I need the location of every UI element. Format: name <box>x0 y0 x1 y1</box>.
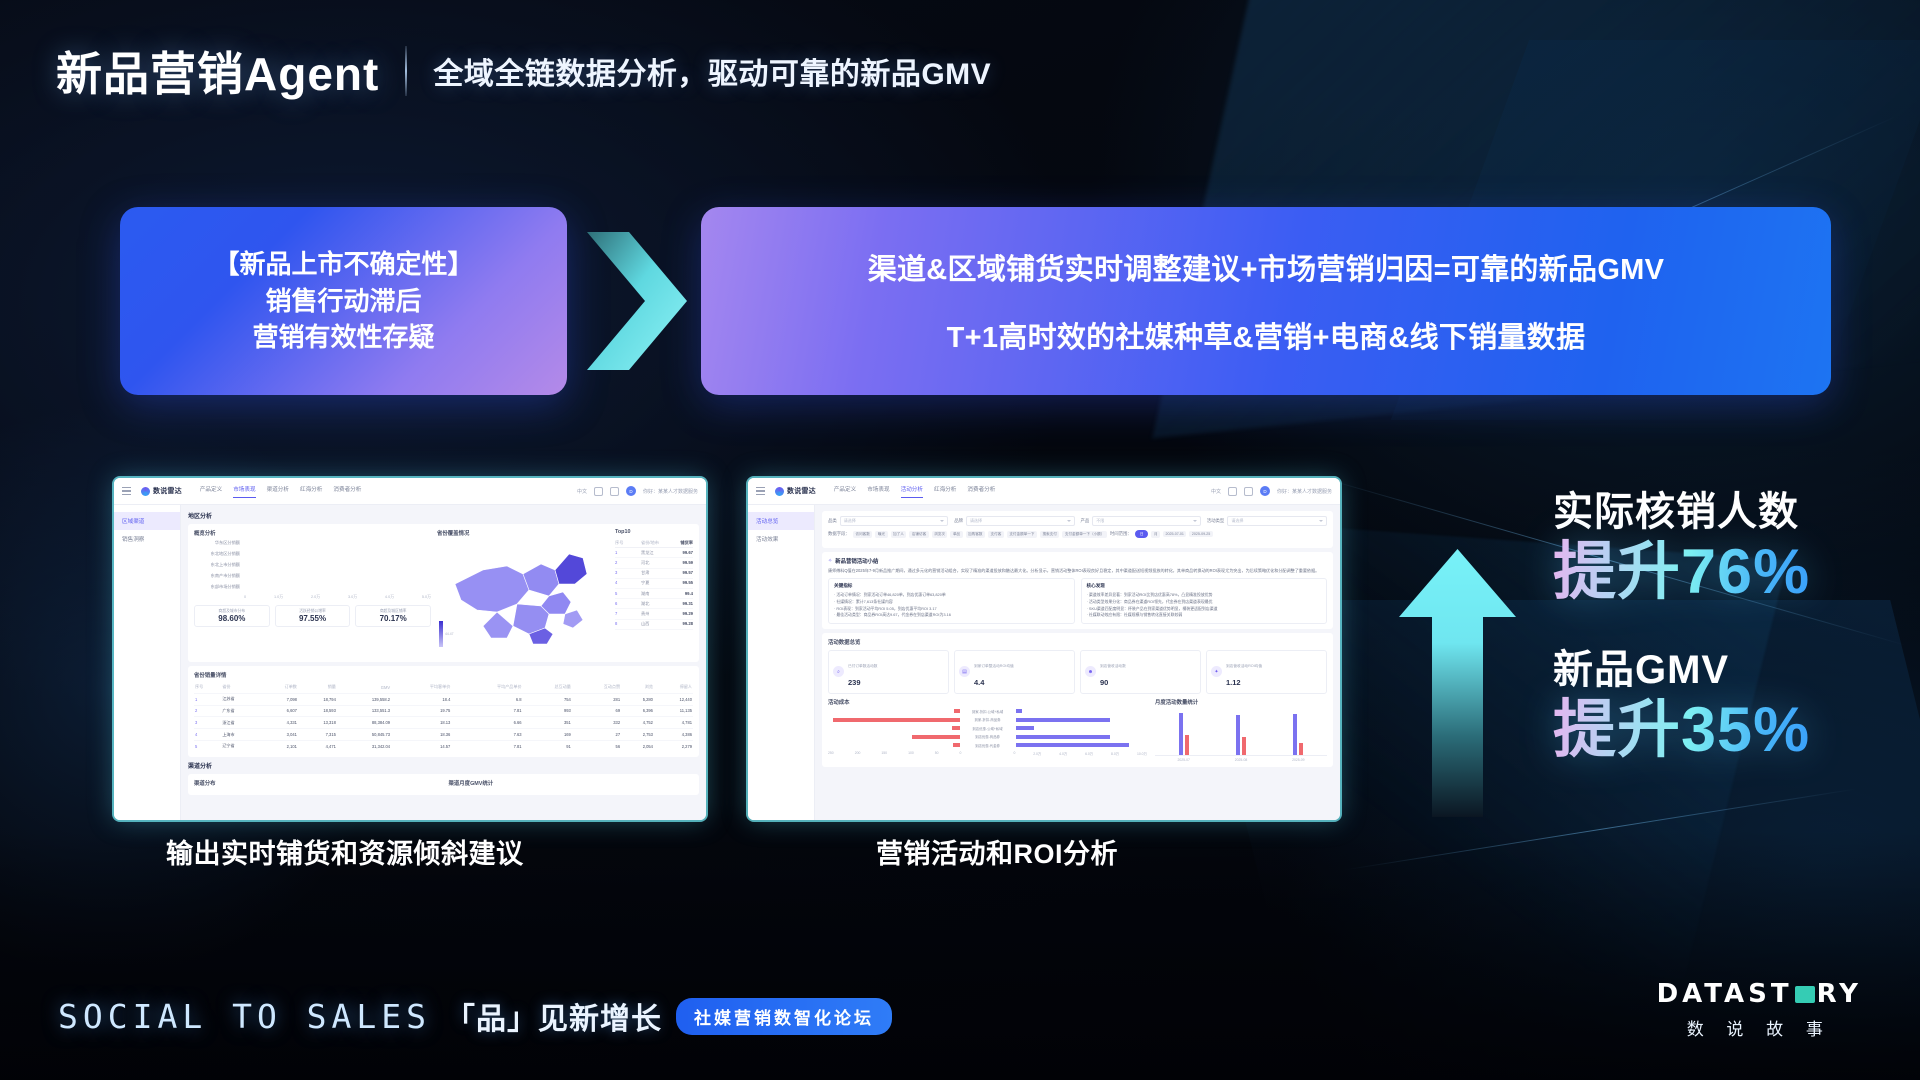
table-row: 3浙江省4,33113,31888,384.0918.136.663513324… <box>194 717 693 729</box>
china-map-icon <box>437 540 605 652</box>
list-item: · 活动订单情况：到家活动订单46,820单，到店优惠订单63,820单 <box>834 592 1069 599</box>
kpi-card: ⌕已付订单数活动数239 <box>828 650 949 694</box>
channel-dist-title: 渠道分布 <box>194 779 439 787</box>
list-item: 8山西99.28 <box>615 620 693 630</box>
time-unit-day-button[interactable]: 日 <box>1135 530 1149 538</box>
sidebar-item-0[interactable]: 活动总览 <box>748 512 814 530</box>
list-item: 4宁夏99.55 <box>615 579 693 589</box>
language-selector[interactable]: 中文 <box>577 488 587 495</box>
tag[interactable]: 曝光 <box>875 531 887 538</box>
problem-card: 【新品上市不确定性】 销售行动滞后 营销有效性存疑 <box>120 207 567 395</box>
axis-tick: 5.0万 <box>422 595 431 600</box>
user-icon: ☻ <box>1085 666 1096 677</box>
col-header: 省份 <box>221 682 259 693</box>
dashboard-right-topbar-right: 中文 D 你好：某某人才数据服务 <box>1211 486 1332 496</box>
sparkle-icon: ✧ <box>828 558 832 564</box>
months-plot <box>1155 709 1327 756</box>
tag-row: 数据字段： 访问客数 曝光 加了人 店铺访客 浏览次 单品 加购客数 支付客 支… <box>828 530 1327 538</box>
company-logo-en-post: RY <box>1817 979 1862 1009</box>
col-header: 序号 <box>615 540 641 546</box>
col-header: 浏览 <box>621 682 654 693</box>
chevron-down-icon <box>1193 520 1197 522</box>
summary-card: ✧ 新品营销活动小结 康师傅料Q值在2025年7-9月新品推广期间，通过多元化的… <box>822 552 1333 629</box>
stat-value: 提升35% <box>1553 694 1810 766</box>
china-map-chart: 省份覆盖情况 <box>437 529 609 657</box>
event-logo-en: SOCIAL TO SALES <box>58 997 431 1036</box>
filter-label: 品牌 <box>954 518 963 524</box>
stat-label: 实际核销人数 <box>1553 488 1810 536</box>
nav-item-2[interactable]: 渠道分析 <box>267 485 289 498</box>
header-divider <box>405 46 407 96</box>
axis-tick: 2025-07 <box>1177 758 1189 762</box>
nav-item-3[interactable]: 红海分析 <box>300 485 322 498</box>
tornado-row: 到店优惠-代金券 <box>828 743 1147 748</box>
axis-tick: 200 <box>855 751 861 756</box>
nav-item-1[interactable]: 市场表现 <box>233 485 255 498</box>
event-logo-cn: 「品」见新增长 <box>445 994 662 1038</box>
map-legend: 44.47 <box>439 621 454 647</box>
col-header: 互动点赞 <box>572 682 621 693</box>
list-item: 3甘肃99.57 <box>615 569 693 579</box>
nav-item-0[interactable]: 产品定义 <box>834 485 856 498</box>
table-row: 1江苏省7,09818,794139,558.218.46.87542815,2… <box>194 693 693 705</box>
stat-value: 提升76% <box>1553 536 1810 608</box>
sidebar-item-0[interactable]: 区域渠道 <box>114 512 180 530</box>
kpi-card: 商超及城市分布98.60% <box>194 605 270 627</box>
tag[interactable]: 搜索支付 <box>1040 531 1059 538</box>
key-metrics-box: 关键指标 · 活动订单情况：到家活动订单46,820单，到店优惠订单63,820… <box>828 578 1075 624</box>
map-title: 省份覆盖情况 <box>437 529 609 537</box>
kpi-value: 90 <box>1100 678 1108 687</box>
dashboard-right-topbar: 数说雷达 产品定义 市场表现 活动分析 红海分析 消费者分析 中文 D 你好：某… <box>748 478 1340 505</box>
filter-group: 品类请选择 <box>828 516 948 526</box>
stat-1: 实际核销人数 提升76% <box>1553 488 1810 608</box>
stats-block: 实际核销人数 提升76% 新品GMV 提升35% <box>1553 488 1810 767</box>
axis-tick: 2.0万 <box>311 595 320 600</box>
dashboard-left-topbar-right: 中文 D 你好：某某人才数据服务 <box>577 486 698 496</box>
nav-item-0[interactable]: 产品定义 <box>200 485 222 498</box>
axis-tick: 100 <box>908 751 914 756</box>
problem-line-1: 【新品上市不确定性】 <box>213 246 473 283</box>
axis-tick: 50 <box>935 751 939 756</box>
axis-tick: 0 <box>244 595 246 600</box>
list-item: 2河北99.59 <box>615 558 693 568</box>
company-logo-en-pre: DATAST <box>1657 979 1793 1009</box>
bar-row: 东部市场分销额 <box>194 584 431 590</box>
col-header: 平均产品单价 <box>451 682 522 693</box>
company-logo: DATAST RY 数 说 故 事 <box>1657 979 1862 1040</box>
avatar[interactable]: D <box>1260 486 1270 496</box>
activity-overview-card: 活动数据总览 ⌕已付订单数活动数239 ▤到家订单整活动ROI均值4.4 ☻到店… <box>822 633 1333 767</box>
col-header: 订单数 <box>260 682 298 693</box>
key-metrics-title: 关键指标 <box>834 583 1069 589</box>
logo-mark-icon <box>141 487 150 496</box>
date-end-input[interactable]: 2025-09-25 <box>1189 531 1212 537</box>
page-header: 新品营销Agent 全域全链数据分析，驱动可靠的新品GMV <box>56 38 991 104</box>
chevron-down-icon <box>1067 520 1071 522</box>
kpi-card: ☻到店营收活动数90 <box>1080 650 1201 694</box>
dashboard-left-main: 地区分析 概览分析 华东区分销额 东北地区分销额 东北上市分销额 东南产市分销额… <box>181 505 706 820</box>
list-item: · ROI表现：到家活动平均ROI 5.05，到店优惠平均ROI 3.17 <box>834 606 1069 613</box>
kpi-value: 70.17% <box>358 614 428 623</box>
tag[interactable]: 支付金额单一下 <box>1007 531 1037 538</box>
monthly-bar-chart: 月度活动数量统计 2025-07 2025-08 2025-09 <box>1155 698 1327 762</box>
tornado-row: 到家-折扣-商品券 <box>828 717 1147 722</box>
bar-row: 华东区分销额 <box>194 540 431 546</box>
nav-item-1[interactable]: 市场表现 <box>867 485 889 498</box>
solution-line-2: T+1高时效的社媒种草&营销+电商&线下销量数据 <box>947 314 1586 356</box>
kpi-value: 98.60% <box>197 614 267 623</box>
kpi-card: 商超及城区铺率70.17% <box>355 605 431 627</box>
axis-tick: 8.0万 <box>1111 751 1119 756</box>
overview-card: 概览分析 华东区分销额 东北地区分销额 东北上市分销额 东南产市分销额 东部市场… <box>188 524 699 662</box>
problem-line-2: 销售行动滞后 <box>265 283 421 320</box>
search-icon: ⌕ <box>833 666 844 677</box>
logo-mark-icon <box>775 487 784 496</box>
bar-group <box>1293 714 1303 755</box>
event-branding: SOCIAL TO SALES 「品」见新增长 社媒营销数智化论坛 <box>58 994 892 1038</box>
tornado-row: 到家-折扣-公域+私域 <box>828 709 1147 714</box>
filter-label: 产品 <box>1081 518 1090 524</box>
filter-select[interactable]: 请选择 <box>966 516 1074 526</box>
bar-label: 华东区分销额 <box>194 540 240 546</box>
nav-item-4[interactable]: 消费者分析 <box>333 485 361 498</box>
kpi-card: ✦到店营收活动ROI均值1.12 <box>1206 650 1327 694</box>
filter-select[interactable]: 请选择 <box>1227 516 1327 526</box>
table-header-row: 序号 省份 订单数 销量 GMV 平均客单价 平均产品单价 总互动量 互动点赞 … <box>194 682 693 693</box>
cost-title: 活动成本 <box>828 698 1147 706</box>
time-unit-month-button[interactable]: 月 <box>1151 531 1160 538</box>
help-icon[interactable] <box>1228 487 1237 496</box>
top10-list: Top10 序号 省份/地市 铺货率 1黑龙江99.67 2河北99.59 3甘… <box>615 529 693 657</box>
list-item: 1黑龙江99.67 <box>615 548 693 558</box>
summary-title: 新品营销活动小结 <box>835 557 878 565</box>
tag[interactable]: 支付金额单一下（小额） <box>1062 531 1107 538</box>
axis-tick: 10.0万 <box>1137 751 1147 756</box>
list-item: · 社媒情况：累计7,613条社媒内容 <box>834 599 1069 606</box>
bar-chart: 概览分析 华东区分销额 东北地区分销额 东北上市分销额 东南产市分销额 东部市场… <box>194 529 431 657</box>
dashboard-left-sidebar[interactable]: 区域渠道 销售洞察 <box>114 505 181 820</box>
dashboard-screenshot-right[interactable]: 数说雷达 产品定义 市场表现 活动分析 红海分析 消费者分析 中文 D 你好：某… <box>748 478 1340 820</box>
tag[interactable]: 加购客数 <box>966 531 985 538</box>
stat-label: 新品GMV <box>1553 646 1810 694</box>
axis-tick: 0 <box>1014 751 1016 756</box>
cost-tornado-chart: 活动成本 到家-折扣-公域+私域 到家-折扣-商品券 到店优惠-公域+私域 到店… <box>828 698 1147 762</box>
col-header: 铺货率 <box>667 540 693 546</box>
dashboard-right-sidebar[interactable]: 活动总览 活动效果 <box>748 505 815 820</box>
axis-tick: 6.0万 <box>1085 751 1093 756</box>
list-item: 5湖南99.4 <box>615 589 693 599</box>
tag[interactable]: 支付客 <box>988 531 1004 538</box>
core-findings-box: 核心发现 · 渠道效率差异显著：到家活动ROI比到店优惠高78%，凸显精准投放优… <box>1081 578 1328 624</box>
bell-icon[interactable] <box>610 487 619 496</box>
dashboard-right-nav[interactable]: 产品定义 市场表现 活动分析 红海分析 消费者分析 <box>834 485 996 498</box>
tag[interactable]: 加了人 <box>891 531 907 538</box>
company-logo-en: DATAST RY <box>1657 979 1862 1009</box>
stat-2: 新品GMV 提升35% <box>1553 646 1810 766</box>
col-header: 平均客单价 <box>391 682 451 693</box>
slide-root: 新品营销Agent 全域全链数据分析，驱动可靠的新品GMV 【新品上市不确定性】… <box>0 0 1920 1080</box>
logo-text: 数说雷达 <box>153 486 182 496</box>
col-header: 省份/地市 <box>641 540 667 546</box>
filter-label: 品类 <box>828 518 837 524</box>
bar-row: 东北地区分销额 <box>194 551 431 557</box>
kpi-value: 239 <box>848 678 861 687</box>
dashboard-left-logo: 数说雷达 <box>141 486 182 496</box>
bar-axis: 0 1.0万 2.0万 3.0万 4.0万 5.0万 <box>194 595 431 600</box>
dashboard-left-topbar: 数说雷达 产品定义 市场表现 渠道分析 红海分析 消费者分析 中文 D 你好：某… <box>114 478 706 505</box>
axis-tick: 2025-08 <box>1235 758 1247 762</box>
kpi-value: 4.4 <box>974 678 984 687</box>
solution-card: 渠道&区域铺货实时调整建议+市场营销归因=可靠的新品GMV T+1高时效的社媒种… <box>701 207 1831 395</box>
axis-tick: 250 <box>828 751 834 756</box>
kpi-label: 已付订单数活动数 <box>848 664 878 668</box>
core-findings-title: 核心发现 <box>1087 583 1322 589</box>
col-header: 序号 <box>194 682 221 693</box>
avatar[interactable]: D <box>626 486 636 496</box>
axis-tick: 2.0万 <box>1033 751 1041 756</box>
bar-chart-title: 概览分析 <box>194 529 431 537</box>
kpi-label: 到店营收活动ROI均值 <box>1226 664 1262 668</box>
filter-group: 产品不限 <box>1081 516 1201 526</box>
kpi-value: 1.12 <box>1226 678 1241 687</box>
bell-icon[interactable] <box>1244 487 1253 496</box>
list-item: · 社媒联动效应有限：社媒规模与销售转化直接关联较弱 <box>1087 612 1322 619</box>
list-item: · 渠道效率差异显著：到家活动ROI比到店优惠高78%，凸显精准投放优势 <box>1087 592 1322 599</box>
table-row: 4上海市3,0417,31550,845.7318.367.63169272,7… <box>194 729 693 741</box>
province-table-card: 省份销量详情 序号 省份 订单数 销量 GMV 平均客单价 平均产品单价 总互动… <box>188 666 699 757</box>
overview-kpi-row: ⌕已付订单数活动数239 ▤到家订单整活动ROI均值4.4 ☻到店营收活动数90… <box>828 650 1327 694</box>
axis-tick: 3.0万 <box>348 595 357 600</box>
tag[interactable]: 访问客数 <box>853 531 872 538</box>
date-start-input[interactable]: 2025-07-01 <box>1163 531 1186 537</box>
kpi-card: ▤到家订单整活动ROI均值4.4 <box>954 650 1075 694</box>
logo-square-icon <box>1795 986 1815 1003</box>
filter-group: 活动类型请选择 <box>1207 516 1327 526</box>
filter-select[interactable]: 请选择 <box>840 516 948 526</box>
province-table: 序号 省份 订单数 销量 GMV 平均客单价 平均产品单价 总互动量 互动点赞 … <box>194 682 693 752</box>
channel-card: 渠道分布 渠道月度GMV统计 <box>188 774 699 795</box>
nav-item-3[interactable]: 红海分析 <box>934 485 956 498</box>
kpi-value: 97.55% <box>278 614 348 623</box>
solution-line-1: 渠道&区域铺货实时调整建议+市场营销归因=可靠的新品GMV <box>868 246 1665 288</box>
axis-tick: 2025-09 <box>1292 758 1304 762</box>
bar-group <box>1236 715 1246 755</box>
banner-row: 【新品上市不确定性】 销售行动滞后 营销有效性存疑 渠道&区域铺货实时调整建议+… <box>120 207 1831 395</box>
nav-item-4[interactable]: 消费者分析 <box>967 485 995 498</box>
bar-label: 东南产市分销额 <box>194 573 240 579</box>
bird-icon: ✦ <box>1211 666 1222 677</box>
channel-section-title: 渠道分析 <box>188 761 699 770</box>
arrow-up-icon <box>1395 545 1520 820</box>
map-legend-high: 44.47 <box>445 632 454 636</box>
dashboard-right-main: 品类请选择 品牌请选择 产品不限 活动类型请选择 数据字段： 访问客数 曝光 加… <box>815 505 1340 820</box>
months-axis: 2025-07 2025-08 2025-09 <box>1155 756 1327 762</box>
dashboard-left-nav[interactable]: 产品定义 市场表现 渠道分析 红海分析 消费者分析 <box>200 485 362 498</box>
bar-group <box>1179 713 1189 755</box>
chevron-down-icon <box>940 520 944 522</box>
sidebar-item-1[interactable]: 销售洞察 <box>114 530 180 548</box>
problem-line-3: 营销有效性存疑 <box>252 319 434 356</box>
filter-group: 品牌请选择 <box>954 516 1074 526</box>
list-item: · 最佳活动类型：商品券ROI高达9.67，代金券在到店渠道ROI为3.16 <box>834 612 1069 619</box>
kpi-card: 活跃经销公增率97.55% <box>275 605 351 627</box>
bar-label: 东部市场分销额 <box>194 584 240 590</box>
kpi-label: 到家订单整活动ROI均值 <box>974 664 1014 668</box>
top10-header: 序号 省份/地市 铺货率 <box>615 538 693 548</box>
section-title: 地区分析 <box>188 511 699 520</box>
list-item: 6湖北99.31 <box>615 599 693 609</box>
page-subtitle: 全域全链数据分析，驱动可靠的新品GMV <box>433 49 991 93</box>
logo-text: 数说雷达 <box>787 486 816 496</box>
axis-tick: 1.0万 <box>274 595 283 600</box>
list-item: · SKU渠道匹配度明显：杯装产品在到家渠道优势明显，桶装更适配到店渠道 <box>1087 606 1322 613</box>
bar-row: 东北上市分销额 <box>194 562 431 568</box>
list-item: · 活动类型效果分化：商品券在渠道ROI领先，代金券在到店渠道表现最优 <box>1087 599 1322 606</box>
axis-tick: 4.0万 <box>385 595 394 600</box>
filter-label: 活动类型 <box>1207 518 1225 524</box>
menu-icon[interactable] <box>122 487 131 495</box>
axis-tick: 4.0万 <box>1059 751 1067 756</box>
bar-label: 东北上市分销额 <box>194 562 240 568</box>
table-row: 5辽宁省2,1014,47131,342.0414.577.8191562,05… <box>194 740 693 751</box>
filter-select[interactable]: 不限 <box>1092 516 1200 526</box>
tag[interactable]: 店铺访客 <box>909 531 928 538</box>
tornado-row: 到店优惠-公域+私域 <box>828 726 1147 731</box>
summary-text: 康师傅料Q值在2025年7-9月新品推广期间，通过多元化的营销活动组合，实现了精… <box>828 568 1327 574</box>
tag[interactable]: 浏览次 <box>932 531 948 538</box>
overview-title: 活动数据总览 <box>828 638 1327 646</box>
company-logo-cn: 数 说 故 事 <box>1657 1015 1862 1040</box>
caption-left: 输出实时铺货和资源倾斜建议 <box>166 832 524 871</box>
kpi-row: 商超及城市分布98.60% 活跃经销公增率97.55% 商超及城区铺率70.17… <box>194 605 431 627</box>
tag[interactable]: 单品 <box>950 531 962 538</box>
dashboard-right-logo: 数说雷达 <box>775 486 816 496</box>
help-icon[interactable] <box>594 487 603 496</box>
menu-icon[interactable] <box>756 487 765 495</box>
tornado-row: 到店优惠-商品券 <box>828 734 1147 739</box>
dashboard-screenshot-left[interactable]: 数说雷达 产品定义 市场表现 渠道分析 红海分析 消费者分析 中文 D 你好：某… <box>114 478 706 820</box>
table-title: 省份销量详情 <box>194 671 693 679</box>
event-badge: 社媒营销数智化论坛 <box>676 998 892 1035</box>
kpi-label: 到店营收活动数 <box>1100 664 1126 668</box>
filter-row: 品类请选择 品牌请选择 产品不限 活动类型请选择 <box>828 516 1327 526</box>
summary-title-row: ✧ 新品营销活动小结 <box>828 557 1327 565</box>
bar-row: 东南产市分销额 <box>194 573 431 579</box>
chevron-right-icon <box>583 226 693 376</box>
time-range-label: 时间范围： <box>1110 531 1132 537</box>
page-title: 新品营销Agent <box>56 38 379 104</box>
language-selector[interactable]: 中文 <box>1211 488 1221 495</box>
col-header: 总互动量 <box>523 682 572 693</box>
list-item: 7贵州99.29 <box>615 609 693 619</box>
sidebar-item-1[interactable]: 活动效果 <box>748 530 814 548</box>
nav-item-2[interactable]: 活动分析 <box>901 485 923 498</box>
calendar-icon: ▤ <box>959 666 970 677</box>
filter-panel: 品类请选择 品牌请选择 产品不限 活动类型请选择 数据字段： 访问客数 曝光 加… <box>822 511 1333 548</box>
chevron-down-icon <box>1319 520 1323 522</box>
caption-right: 营销活动和ROI分析 <box>876 832 1118 871</box>
col-header: GMV <box>337 682 391 693</box>
user-label[interactable]: 你好：某某人才数据服务 <box>1277 488 1332 495</box>
user-label[interactable]: 你好：某某人才数据服务 <box>643 488 698 495</box>
axis-tick: 150 <box>881 751 887 756</box>
col-header: 停留人 <box>654 682 693 693</box>
bar-label: 东北地区分销额 <box>194 551 240 557</box>
months-title: 月度活动数量统计 <box>1155 698 1327 706</box>
table-row: 2广东省6,60718,593133,551.319.757.81993696,… <box>194 705 693 717</box>
channel-gmv-title: 渠道月度GMV统计 <box>449 779 694 787</box>
tag-row-label: 数据字段： <box>828 531 850 537</box>
top10-title: Top10 <box>615 529 693 535</box>
col-header: 销量 <box>298 682 337 693</box>
